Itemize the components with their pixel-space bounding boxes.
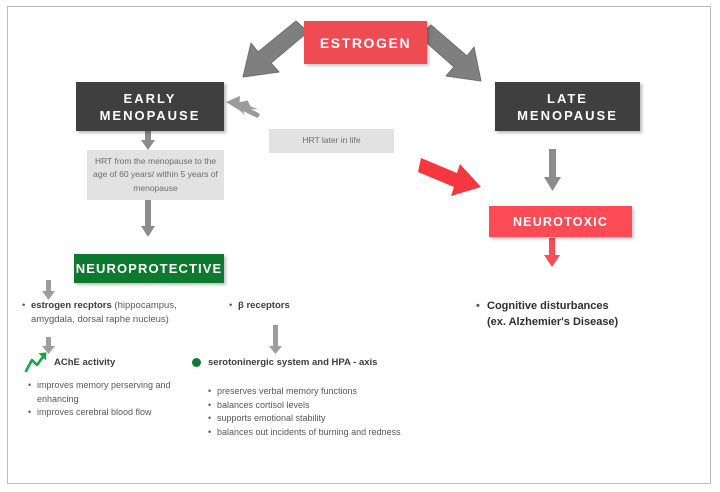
late-menopause-box[interactable]: LATE MENOPAUSE [495,82,640,131]
arrow-hrt-later-to-early-icon [226,96,259,118]
beta-receptors-label: β receptors [238,299,379,313]
hrt-early-label: HRT from the menopause to the age of 60 … [93,155,218,196]
bullet-glyph: • [208,399,217,413]
cognitive-disturbances-line1: Cognitive disturbances [487,300,609,312]
ache-activity-row: AChE activity [24,351,164,373]
list-item: • improves cerebral blood flow [28,406,173,420]
list-item: • supports emotional stability [208,412,448,426]
green-dot-icon [192,358,201,367]
neurotoxic-box[interactable]: NEUROTOXIC [489,206,632,237]
arrow-estrogen-to-late-icon [419,25,481,81]
diagram-frame: ESTROGEN EARLY MENOPAUSE LATE MENOPAUSE … [7,6,711,484]
arrow-estrogen-to-early-icon [243,21,308,77]
bullet-glyph: • [28,406,37,420]
arrow-neuroprotective-to-receptors-icon [42,280,55,300]
hrt-later-label: HRT later in life [302,134,360,148]
list-item-text: balances out incidents of burning and re… [217,426,448,440]
list-item-text: supports emotional stability [217,412,448,426]
neuroprotective-box[interactable]: NEUROPROTECTIVE [74,254,224,283]
list-item: • preserves verbal memory functions [208,385,448,399]
early-menopause-box[interactable]: EARLY MENOPAUSE [76,82,224,131]
estrogen-box[interactable]: ESTROGEN [304,21,427,64]
bullet-glyph: • [28,379,37,393]
bullet-glyph: • [208,426,217,440]
bullet-glyph: • [476,298,487,314]
diagram-canvas: ESTROGEN EARLY MENOPAUSE LATE MENOPAUSE … [0,0,720,492]
arrow-late-to-neurotoxic-icon [544,149,561,191]
neurotoxic-label: NEUROTOXIC [513,215,608,229]
estrogen-receptors-heading: • estrogen recptors (hippocampus, amygda… [22,299,222,327]
hrt-later-box[interactable]: HRT later in life [269,129,394,153]
list-item-text: balances cortisol levels [217,399,448,413]
bullet-glyph: • [208,412,217,426]
ache-activity-label: AChE activity [54,357,115,368]
arrow-hrt-to-neuroprotective-icon [141,199,155,237]
list-item: • balances cortisol levels [208,399,448,413]
up-trend-arrow-icon [24,351,50,373]
serotoninergic-row: serotoninergic system and HPA - axis [192,357,472,368]
arrow-neurotoxic-to-outcome-icon [544,238,560,267]
late-menopause-label: LATE MENOPAUSE [517,90,618,124]
hrt-early-box[interactable]: HRT from the menopause to the age of 60 … [87,150,224,200]
early-menopause-label: EARLY MENOPAUSE [100,90,201,124]
cognitive-disturbances-line2: (ex. Alzhemier's Disease) [487,316,618,328]
bullet-glyph: • [229,299,238,313]
list-item-text: improves memory perserving and enhancing [37,379,173,406]
list-item-text: improves cerebral blood flow [37,406,173,420]
arrow-beta-to-serotonin-icon [269,325,282,354]
beta-receptors-heading: • β receptors [229,299,379,313]
bullet-glyph: • [22,299,31,313]
neuroprotective-label: NEUROPROTECTIVE [76,261,223,276]
estrogen-receptors-bold: estrogen recptors [31,300,112,311]
left-branch-bullet-list: • improves memory perserving and enhanci… [28,379,173,420]
list-item-text: preserves verbal memory functions [217,385,448,399]
list-item: • improves memory perserving and enhanci… [28,379,173,406]
middle-branch-bullet-list: • preserves verbal memory functions • ba… [208,385,448,439]
arrow-hrt-later-to-neurotoxic-icon [418,158,481,196]
list-item: • balances out incidents of burning and … [208,426,448,440]
estrogen-label: ESTROGEN [320,35,411,51]
bullet-glyph: • [208,385,217,399]
serotoninergic-label: serotoninergic system and HPA - axis [208,357,377,368]
cognitive-disturbances-block: • Cognitive disturbances (ex. Alzhemier'… [476,298,676,330]
